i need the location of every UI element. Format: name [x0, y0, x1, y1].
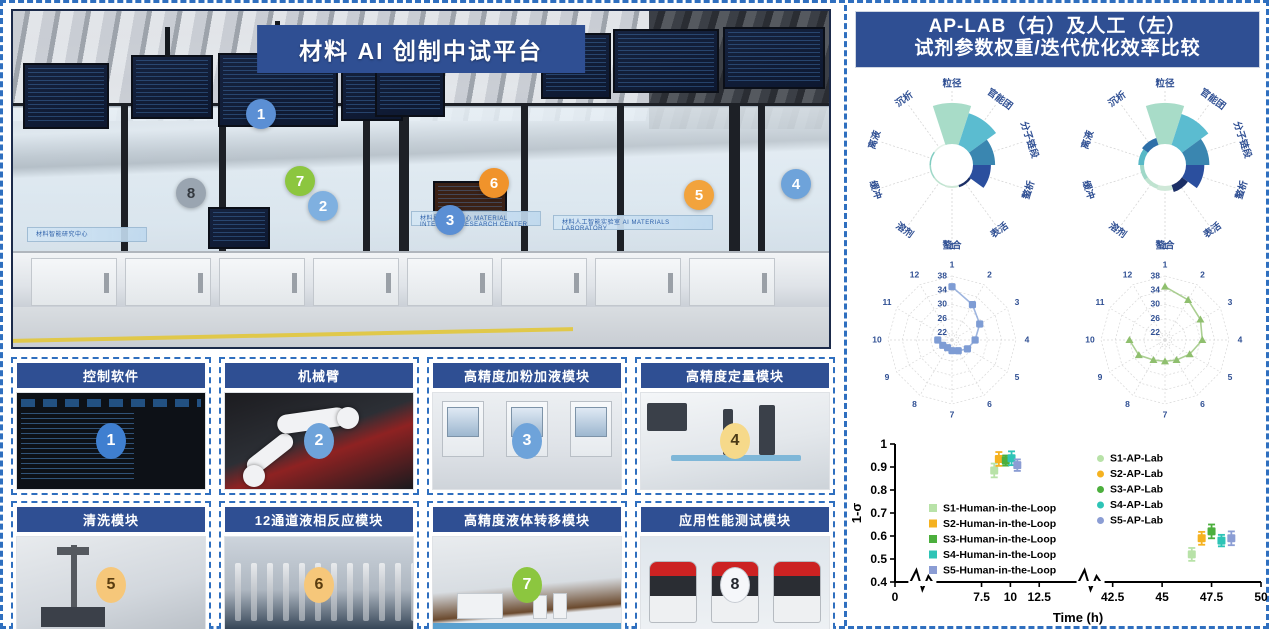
rose-center-hole	[1145, 145, 1185, 185]
legend-swatch	[1097, 501, 1104, 508]
axis-break-mask	[1077, 581, 1105, 586]
right-title-line-2: 试剂参数权重/迭代优化效率比较	[860, 38, 1255, 60]
x-tick-label: 12.5	[1028, 590, 1052, 604]
y-tick-label: 0.7	[870, 506, 887, 520]
polar-angle-label: 2	[987, 269, 992, 279]
rose-axis-label: 螯析	[1020, 178, 1038, 201]
x-tick-label: 0	[892, 590, 899, 604]
bench-cabinet	[313, 258, 399, 306]
glass-mullion	[521, 106, 528, 258]
polar-data-point	[1135, 351, 1143, 358]
polar-angle-label: 9	[885, 372, 890, 382]
y-tick-label: 0.5	[870, 552, 887, 566]
y-tick-label: 0.4	[870, 575, 887, 589]
glass-mullion	[399, 106, 409, 258]
lab-floor	[13, 307, 829, 349]
card-title: 清洗模块	[16, 506, 206, 533]
polar-radial-tick: 22	[938, 327, 948, 337]
polar-scatter-2: 1234567891011122226303438	[1085, 259, 1242, 419]
rose-axis-label: 缓冲	[867, 179, 884, 201]
data-point-S3-Human-in-the-Loop	[1208, 527, 1216, 535]
rose-chart-2: 粒径官能团分子链段螯析表活螯合溶剂缓冲离液沉析1	[1079, 77, 1254, 251]
bench-cabinet	[501, 258, 587, 306]
hero-badge-2[interactable]: 2	[308, 191, 338, 221]
polar-data-point	[1161, 282, 1169, 289]
polar-spoke	[1133, 340, 1165, 395]
card-thumbnail: 7	[432, 536, 622, 629]
card-badge-6[interactable]: 6	[304, 567, 334, 603]
module-card-quantitative[interactable]: 高精度定量模块 4	[635, 357, 835, 495]
data-point-S1-AP-Lab	[990, 466, 998, 474]
wall-monitor	[23, 63, 109, 129]
polar-angle-label: 4	[1238, 334, 1243, 344]
card-thumbnail: 6	[224, 536, 414, 629]
polar-angle-label: 11	[1096, 297, 1105, 307]
polar-angle-label: 12	[1123, 269, 1133, 279]
rose-gridline	[1122, 181, 1154, 225]
legend-label: S2-Human-in-the-Loop	[943, 518, 1056, 530]
hero-badge-3[interactable]: 3	[435, 205, 465, 235]
rose-center-hole	[932, 145, 972, 185]
monitor-mount	[165, 27, 170, 57]
rose-charts-row: 粒径官能团分子链段螯析表活螯合溶剂缓冲离液沉析1粒径官能团分子链段螯析表活螯合溶…	[847, 70, 1268, 258]
card-badge-1[interactable]: 1	[96, 423, 126, 459]
rose-gridline	[909, 181, 941, 225]
polar-spoke	[1165, 284, 1197, 339]
card-thumbnail: 4	[640, 392, 830, 490]
data-point-S4-Human-in-the-Loop	[1217, 536, 1225, 544]
module-card-liquid-transfer[interactable]: 高精度液体转移模块 7	[427, 501, 627, 629]
polar-angle-label: 6	[1200, 399, 1205, 409]
rose-axis-label: 粒径	[942, 77, 962, 89]
polar-data-point	[972, 336, 979, 343]
polar-angle-label: 5	[1228, 372, 1233, 382]
hero-badge-8[interactable]: 8	[176, 178, 206, 208]
legend-swatch	[1097, 517, 1104, 524]
rose-gridline	[1095, 171, 1146, 188]
axis-break-mask	[908, 581, 936, 586]
rose-axis-label: 表活	[1200, 219, 1224, 241]
card-title: 机械臂	[224, 362, 414, 389]
module-card-grid: 控制软件 1 机械臂 2	[11, 357, 835, 629]
x-tick-label: 45	[1155, 590, 1169, 604]
polar-data-point	[934, 336, 941, 343]
bench-cabinet	[219, 258, 305, 306]
data-point-S4-AP-Lab	[1008, 454, 1016, 462]
polar-radial-tick: 34	[938, 284, 948, 294]
desktop-monitor	[208, 207, 270, 249]
card-title: 控制软件	[16, 362, 206, 389]
card-badge-2[interactable]: 2	[304, 423, 334, 459]
rose-axis-label: 离液	[1079, 128, 1096, 150]
iteration-efficiency-polar-charts: 1234567891011122226303438123456789101112…	[847, 258, 1269, 430]
hero-badge-7[interactable]: 7	[285, 166, 315, 196]
bench-cabinet	[689, 258, 775, 306]
wall-monitor	[613, 29, 719, 93]
right-panel-title: AP-LAB（右）及人工（左） 试剂参数权重/迭代优化效率比较	[855, 11, 1260, 68]
rose-gridline	[1095, 142, 1146, 159]
x-tick-label: 10	[1004, 590, 1018, 604]
card-badge-5[interactable]: 5	[96, 567, 126, 603]
card-title: 12通道液相反应模块	[224, 506, 414, 533]
polar-spoke	[920, 284, 952, 339]
polar-data-point	[976, 320, 983, 327]
legend-label: S5-Human-in-the-Loop	[943, 564, 1056, 576]
polar-data-point	[964, 345, 971, 352]
rose-axis-label: 溶剂	[893, 220, 915, 241]
rose-axis-label: 离液	[866, 128, 883, 150]
y-tick-label: 0.6	[870, 529, 887, 543]
card-badge-3[interactable]: 3	[512, 423, 542, 459]
x-tick-label: 50	[1254, 590, 1268, 604]
rose-axis-label: 官能团	[985, 86, 1015, 112]
polar-radial-tick: 34	[1151, 284, 1161, 294]
sigma-time-chart-row: 0.40.50.60.70.80.9107.51012.542.54547.55…	[847, 430, 1268, 629]
polar-radial-tick: 22	[1151, 327, 1161, 337]
card-thumbnail: 2	[224, 392, 414, 490]
polar-radial-tick: 38	[1151, 270, 1161, 280]
polar-radial-tick: 38	[938, 270, 948, 280]
legend-label: S4-AP-Lab	[1110, 499, 1163, 511]
x-axis-label: Time (h)	[1053, 610, 1103, 625]
polar-angle-label: 8	[1125, 399, 1130, 409]
rose-axis-label: 分子链段	[1231, 120, 1254, 160]
legend-swatch	[1097, 486, 1104, 493]
polar-angle-label: 12	[910, 269, 920, 279]
legend-swatch	[929, 566, 937, 574]
legend-label: S2-AP-Lab	[1110, 468, 1163, 480]
rose-gridline	[882, 142, 933, 159]
legend-label: S3-Human-in-the-Loop	[943, 533, 1056, 545]
polar-angle-label: 5	[1015, 372, 1020, 382]
polar-angle-label: 8	[912, 399, 917, 409]
polar-angle-label: 11	[883, 297, 892, 307]
bench-cabinet	[595, 258, 681, 306]
data-point-S2-Human-in-the-Loop	[1198, 534, 1206, 542]
x-tick-label: 47.5	[1200, 590, 1224, 604]
legend-swatch	[929, 550, 937, 558]
legend-label: S1-AP-Lab	[1110, 452, 1163, 464]
polar-spoke	[1165, 308, 1220, 340]
legend-label: S1-Human-in-the-Loop	[943, 502, 1056, 514]
polar-angle-label: 6	[987, 399, 992, 409]
polar-data-point	[955, 347, 962, 354]
wall-banner: 材料界面研究中心 MATERIAL INTERFACE RESEARCH CEN…	[411, 211, 541, 226]
card-thumbnail: 3	[432, 392, 622, 490]
wall-banner-text: 材料智能研究中心	[36, 229, 88, 238]
polar-data-point	[1125, 336, 1133, 343]
legend-label: S5-AP-Lab	[1110, 514, 1163, 526]
glass-mullion	[363, 106, 370, 258]
data-point-S5-AP-Lab	[1013, 461, 1021, 469]
data-point-S2-AP-Lab	[995, 455, 1003, 463]
legend-swatch	[929, 535, 937, 543]
rose-subtitle: 1	[949, 241, 954, 251]
hero-title: 材料 AI 创制中试平台	[257, 25, 585, 73]
module-card-control-software[interactable]: 控制软件 1	[11, 357, 211, 495]
polar-angle-label: 3	[1228, 297, 1233, 307]
axis-break-marker	[1079, 570, 1101, 590]
data-point-S5-Human-in-the-Loop	[1227, 534, 1235, 542]
card-title: 高精度液体转移模块	[432, 506, 622, 533]
sigma-chart: 0.40.50.60.70.80.9107.51012.542.54547.55…	[849, 437, 1268, 625]
legend-swatch	[1097, 455, 1104, 462]
polar-spoke	[952, 284, 984, 339]
card-thumbnail: 8	[640, 536, 830, 629]
bench-cabinet	[125, 258, 211, 306]
polar-angle-label: 1	[1163, 259, 1168, 269]
hero-photo-panel: 材料智能研究中心 材料界面研究中心 MATERIAL INTERFACE RES…	[11, 9, 831, 349]
y-tick-label: 0.8	[870, 483, 887, 497]
hero-badge-6[interactable]: 6	[479, 168, 509, 198]
hero-badge-5[interactable]: 5	[684, 180, 714, 210]
glass-mullion	[617, 106, 624, 258]
poster-root: 材料智能研究中心 材料界面研究中心 MATERIAL INTERFACE RES…	[0, 0, 1269, 629]
module-card-robot-arm[interactable]: 机械臂 2	[219, 357, 419, 495]
glass-mullion	[758, 106, 765, 258]
legend-swatch	[1097, 470, 1104, 477]
polar-scatter-1: 1234567891011122226303438	[872, 259, 1029, 419]
polar-angle-label: 10	[872, 334, 882, 344]
polar-spoke	[1165, 340, 1197, 395]
x-tick-label: 7.5	[973, 590, 990, 604]
wall-monitor	[131, 55, 213, 119]
wall-monitor	[723, 27, 825, 89]
y-tick-label: 0.9	[870, 460, 887, 474]
module-card-powder-liquid-dosing[interactable]: 高精度加粉加液模块 3	[427, 357, 627, 495]
polar-data-point	[948, 283, 955, 290]
polar-scatter-row: 1234567891011122226303438123456789101112…	[847, 258, 1268, 430]
wall-banner: 材料智能研究中心	[27, 227, 147, 242]
rose-axis-label: 分子链段	[1018, 120, 1041, 160]
hero-badge-4[interactable]: 4	[781, 169, 811, 199]
legend-label: S3-AP-Lab	[1110, 483, 1163, 495]
rose-axis-label: 沉析	[1106, 88, 1129, 109]
polar-spoke	[1133, 284, 1165, 339]
wall-banner-text: 材料人工智能实验室 AI MATERIALS LABORATORY	[562, 217, 712, 232]
card-thumbnail: 1	[16, 392, 206, 490]
polar-data-point	[1184, 296, 1192, 303]
right-title-line-1: AP-LAB（右）及人工（左）	[860, 16, 1255, 38]
card-badge-4[interactable]: 4	[720, 423, 750, 459]
card-thumbnail: 5	[16, 536, 206, 629]
polar-radial-tick: 26	[938, 313, 948, 323]
hero-badge-1[interactable]: 1	[246, 99, 276, 129]
polar-angle-label: 3	[1015, 297, 1020, 307]
card-badge-8[interactable]: 8	[720, 567, 750, 603]
module-card-washing[interactable]: 清洗模块 5	[11, 501, 211, 629]
polar-data-point	[1196, 315, 1204, 322]
bench-cabinet	[407, 258, 493, 306]
rose-axis-label: 沉析	[893, 88, 916, 109]
left-column: 材料智能研究中心 材料界面研究中心 MATERIAL INTERFACE RES…	[5, 5, 838, 626]
one-minus-sigma-vs-time-chart: 0.40.50.60.70.80.9107.51012.542.54547.55…	[847, 430, 1269, 629]
card-title: 高精度加粉加液模块	[432, 362, 622, 389]
wall-banner: 材料人工智能实验室 AI MATERIALS LABORATORY	[553, 215, 713, 230]
rose-gridline	[882, 171, 933, 188]
polar-angle-label: 2	[1200, 269, 1205, 279]
rose-gridline	[964, 181, 996, 225]
polar-angle-label: 1	[950, 259, 955, 269]
polar-angle-label: 7	[950, 409, 955, 419]
legend-swatch	[929, 504, 937, 512]
polar-angle-label: 9	[1098, 372, 1103, 382]
polar-radial-tick: 26	[1151, 313, 1161, 323]
rose-subtitle: 1	[1162, 241, 1167, 251]
card-title: 应用性能测试模块	[640, 506, 830, 533]
polar-angle-label: 7	[1163, 409, 1168, 419]
right-column: AP-LAB（右）及人工（左） 试剂参数权重/迭代优化效率比较 粒径官能团分子链…	[844, 5, 1268, 626]
polar-angle-label: 10	[1085, 334, 1095, 344]
x-tick-label: 42.5	[1101, 590, 1125, 604]
polar-radial-tick: 30	[938, 299, 948, 309]
bench-cabinet	[31, 258, 117, 306]
rose-axis-label: 溶剂	[1106, 220, 1128, 241]
parameter-weight-rose-charts: 粒径官能团分子链段螯析表活螯合溶剂缓冲离液沉析1粒径官能团分子链段螯析表活螯合溶…	[847, 70, 1269, 258]
card-badge-7[interactable]: 7	[512, 567, 542, 603]
polar-angle-label: 4	[1025, 334, 1030, 344]
polar-spoke	[952, 340, 1007, 372]
rose-axis-label: 螯析	[1233, 178, 1251, 201]
module-card-12-channel-reactor[interactable]: 12通道液相反应模块 6	[219, 501, 419, 629]
rose-axis-label: 粒径	[1155, 77, 1175, 89]
glass-mullion	[729, 106, 740, 258]
polar-radial-tick: 30	[1151, 299, 1161, 309]
rose-axis-label: 缓冲	[1080, 179, 1097, 201]
legend-label: S4-Human-in-the-Loop	[943, 549, 1056, 561]
y-axis-label: 1-σ	[849, 502, 864, 523]
y-tick-label: 1	[880, 437, 887, 451]
rose-axis-label: 表活	[987, 219, 1011, 241]
legend-swatch	[929, 519, 937, 527]
data-point-S1-Human-in-the-Loop	[1188, 550, 1196, 558]
card-title: 高精度定量模块	[640, 362, 830, 389]
polar-data-point	[969, 301, 976, 308]
rose-chart-1: 粒径官能团分子链段螯析表活螯合溶剂缓冲离液沉析1	[866, 77, 1041, 251]
rose-axis-label: 官能团	[1198, 86, 1228, 112]
module-card-performance-test[interactable]: 应用性能测试模块 8	[635, 501, 835, 629]
